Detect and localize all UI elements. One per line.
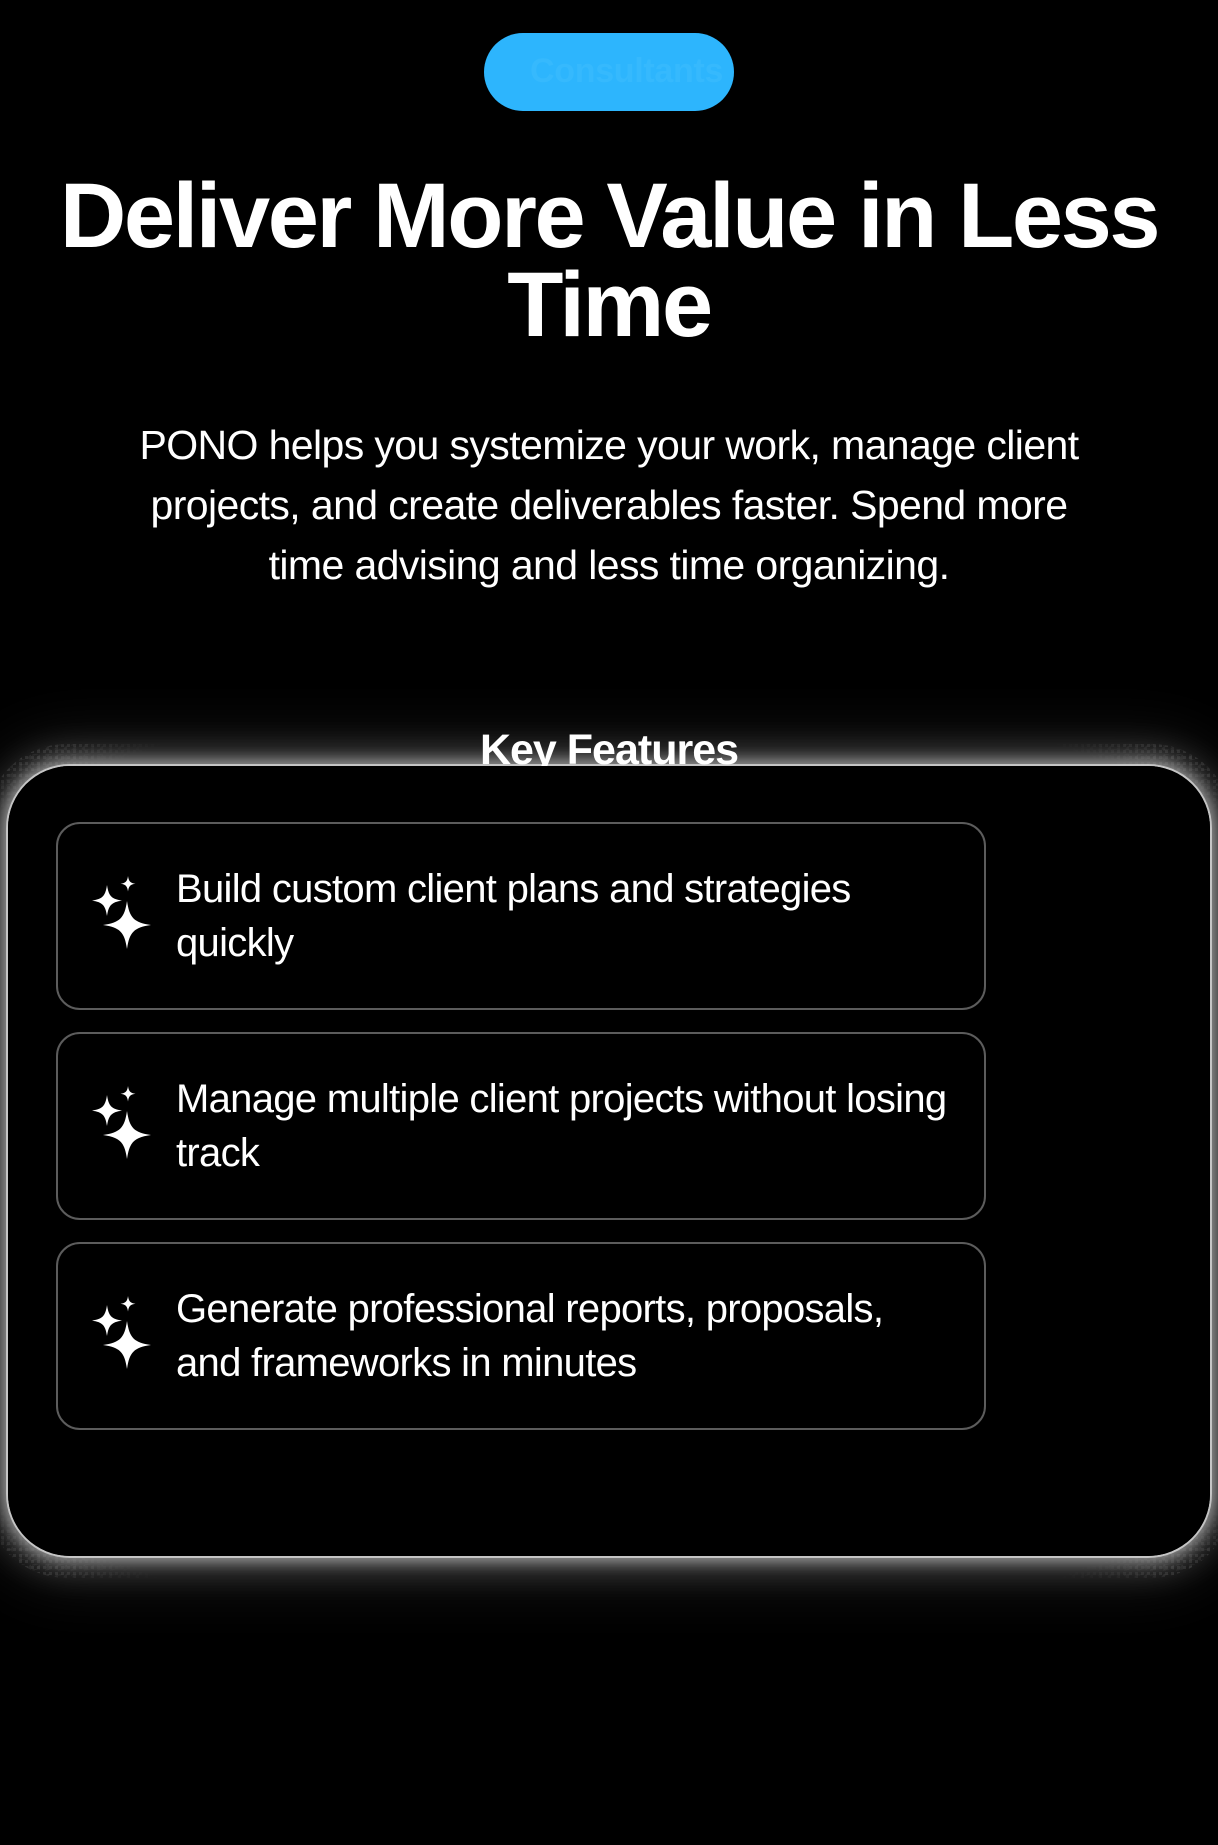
feature-card-text: Build custom client plans and strategies… [176, 862, 954, 970]
screen-root: Consultants Deliver More Value in Less T… [0, 0, 1218, 1845]
feature-card-text: Generate professional reports, proposals… [176, 1282, 954, 1390]
hero-section: Deliver More Value in Less Time PONO hel… [0, 172, 1218, 596]
page-title: Deliver More Value in Less Time [56, 172, 1162, 350]
sparkle-icon [84, 1083, 162, 1169]
audience-badge[interactable]: Consultants [484, 33, 734, 111]
hero-subtitle: PONO helps you systemize your work, mana… [129, 416, 1089, 596]
badge-container: Consultants [0, 33, 1218, 111]
sparkle-icon [84, 1293, 162, 1379]
feature-card-text: Manage multiple client projects without … [176, 1072, 954, 1180]
sparkle-icon [84, 873, 162, 959]
feature-card[interactable]: Generate professional reports, proposals… [56, 1242, 986, 1430]
feature-card[interactable]: Manage multiple client projects without … [56, 1032, 986, 1220]
feature-card[interactable]: Build custom client plans and strategies… [56, 822, 986, 1010]
feature-card-list: Build custom client plans and strategies… [56, 822, 986, 1430]
